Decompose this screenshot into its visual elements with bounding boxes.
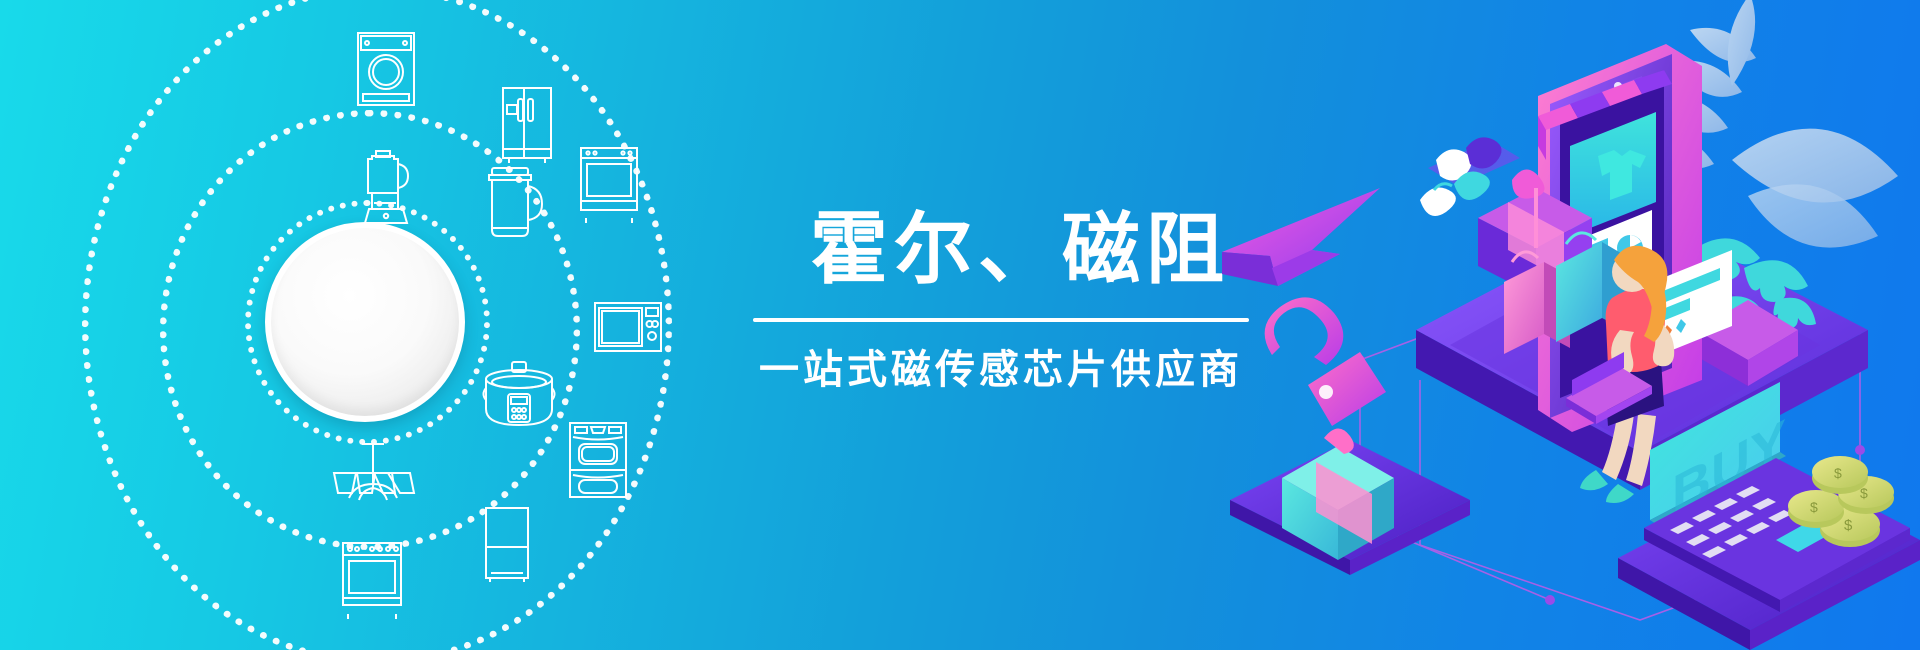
isometric-ecommerce-illustration: BUY xyxy=(1220,0,1920,650)
price-tag-icon xyxy=(1265,297,1386,426)
oven-range-icon xyxy=(578,145,640,225)
rice-cooker-icon xyxy=(480,360,558,438)
blender-icon xyxy=(360,148,412,232)
electric-kettle-icon xyxy=(485,162,547,244)
stove-icon xyxy=(340,540,404,620)
double-oven-icon xyxy=(567,420,629,500)
hero-text-block: 霍尔、磁阻 一站式磁传感芯片供应商 xyxy=(753,210,1273,390)
svg-text:$: $ xyxy=(1810,499,1818,515)
title-divider xyxy=(753,318,1249,322)
chandelier-icon xyxy=(330,440,416,512)
appliance-orbit-diagram xyxy=(0,0,720,650)
refrigerator-side-by-side-icon xyxy=(500,85,554,165)
svg-text:$: $ xyxy=(1844,517,1853,534)
page-title: 霍尔、磁阻 xyxy=(767,210,1273,288)
microwave-icon xyxy=(592,298,664,356)
page-subtitle: 一站式磁传感芯片供应商 xyxy=(759,350,1273,390)
hero-banner: 霍尔、磁阻 一站式磁传感芯片供应商 xyxy=(0,0,1920,650)
svg-text:$: $ xyxy=(1834,465,1842,481)
center-sensor-disc xyxy=(265,222,465,422)
mouse-cursor-icon xyxy=(1222,188,1380,286)
washing-machine-icon xyxy=(355,30,417,108)
refrigerator-bottom-freezer-icon xyxy=(483,505,531,583)
